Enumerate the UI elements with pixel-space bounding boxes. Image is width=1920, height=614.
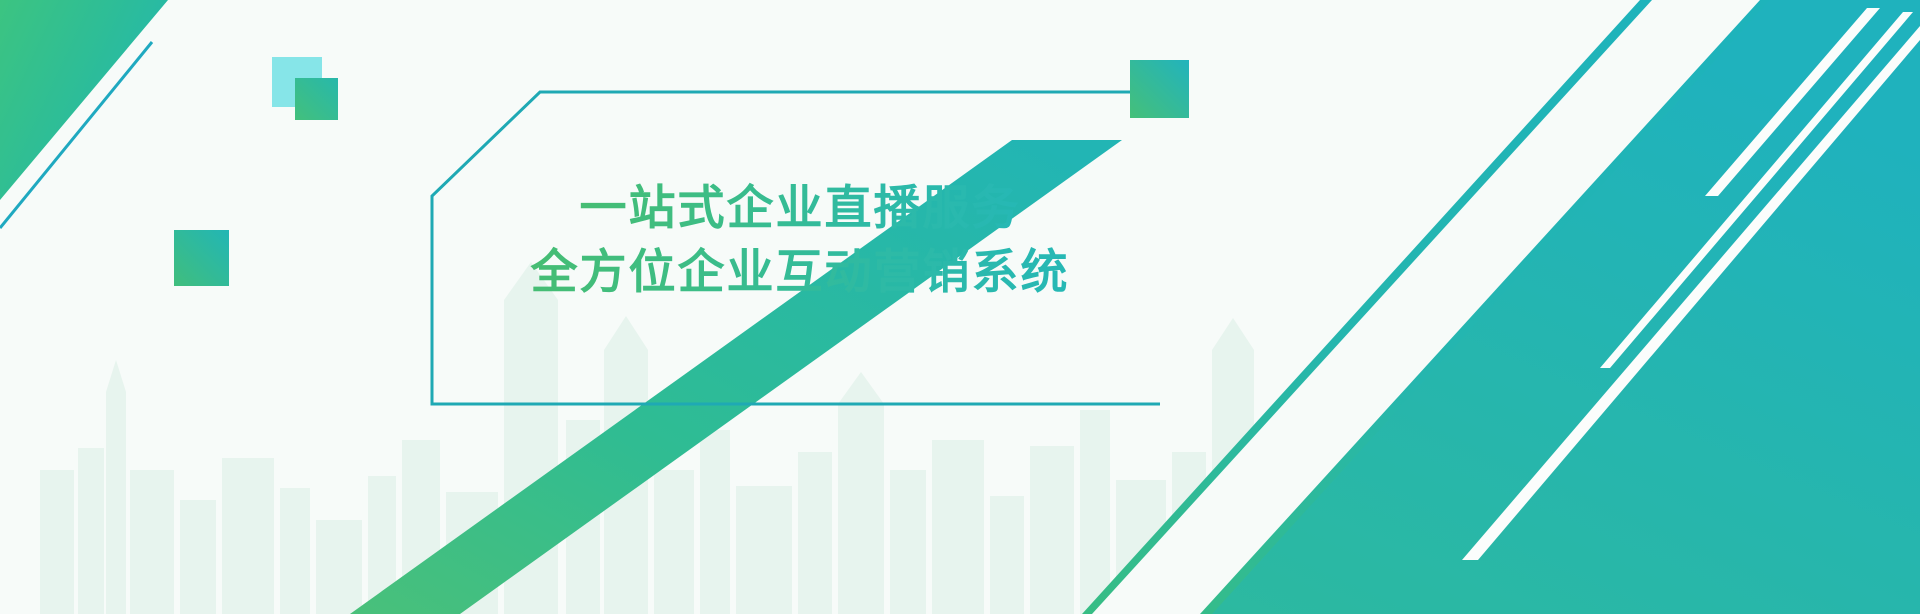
hero-banner: 一站式企业直播服务 全方位企业互动营销系统 — [0, 0, 1920, 614]
decorative-square-green-small — [295, 78, 338, 120]
headline-line-2: 全方位企业互动营销系统 — [530, 245, 1070, 298]
banner-background-artwork: 一站式企业直播服务 全方位企业互动营销系统 — [0, 0, 1920, 614]
headline-line-1: 一站式企业直播服务 — [580, 181, 1021, 234]
decorative-square-green-left — [174, 230, 229, 286]
decorative-square-green-right — [1130, 60, 1189, 118]
